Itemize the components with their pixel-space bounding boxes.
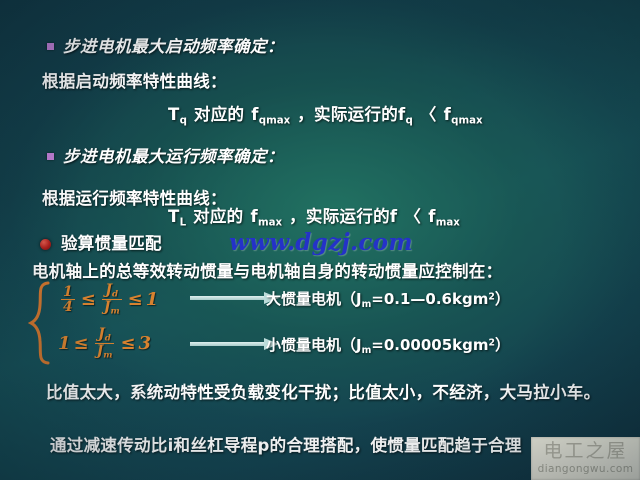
operator-leq-1: ≤ — [74, 333, 89, 354]
inequality-left-value: 1 — [58, 333, 71, 354]
j-symbol: J — [98, 326, 105, 342]
section-1-heading: 步进电机最大启动频率确定： — [47, 33, 284, 57]
formula-comma: ， — [297, 105, 314, 124]
f-subscript: max — [258, 217, 282, 228]
formula-mid-text: 对应的 — [193, 207, 243, 226]
square-bullet-icon — [47, 153, 54, 160]
slide-canvas: 步进电机最大启动频率确定： 根据启动频率特性曲线： Tq对应的fqmax，实际运… — [0, 0, 640, 480]
inertia-intro-text: 电机轴上的总等效转动惯量与电机轴自身的转动惯量应控制在： — [32, 262, 502, 281]
note-2-text: 通过减速传动比i和丝杠导程p的合理搭配，使惯量匹配趋于合理 — [50, 436, 522, 455]
fraction-denominator: Jm — [102, 299, 122, 316]
label-value: =0.1—0.6kgm — [371, 290, 488, 308]
less-than-symbol: 〈 — [404, 207, 421, 226]
square-bullet-icon — [47, 43, 54, 50]
watermark-url: www.dgzj.com — [229, 229, 413, 256]
label-value: =0.00005kgm — [371, 336, 488, 354]
f-symbol: f — [251, 105, 258, 124]
formula-tail-subscript: q — [406, 115, 413, 126]
j-subscript: d — [105, 334, 111, 344]
label-close-paren: ） — [495, 336, 510, 354]
label-subscript: m — [362, 345, 372, 356]
formula-tail-prefix: 实际运行的f — [306, 207, 397, 226]
label-close-paren: ） — [495, 290, 510, 308]
section-1-body-text: 根据启动频率特性曲线： — [42, 72, 227, 91]
section-1-body: 根据启动频率特性曲线： — [42, 68, 227, 92]
less-than-symbol: 〈 — [420, 105, 437, 124]
fraction-jd-jm: Jd Jm — [95, 327, 115, 361]
watermark-url-text: www.dgzj.com — [229, 229, 413, 256]
fraction-numerator: Jd — [96, 327, 113, 343]
curly-brace-icon — [28, 281, 54, 365]
inequality-row-1: 1 4 ≤ Jd Jm ≤ 1 — [58, 283, 158, 317]
section-1-heading-text: 步进电机最大启动频率确定： — [63, 37, 284, 56]
section-2-heading: 步进电机最大运行频率确定： — [47, 143, 284, 167]
formula-tail-prefix: 实际运行的f — [314, 105, 405, 124]
small-inertia-motor-label: 小惯量电机（Jm=0.00005kgm2） — [266, 334, 510, 356]
inertia-heading-text: 验算惯量匹配 — [61, 234, 162, 253]
section-2-formula-line: TL对应的fmax，实际运行的f〈fmax — [168, 203, 460, 228]
inequality-right-value: 3 — [139, 333, 152, 354]
t-symbol: T — [168, 207, 180, 226]
note-line-1: 比值太大，系统动特性受负载变化干扰；比值太小，不经济，大马拉小车。 — [46, 379, 600, 403]
operator-leq-2: ≤ — [120, 333, 135, 354]
j-subscript: m — [110, 307, 119, 317]
f-symbol: f — [250, 207, 257, 226]
label-text: 小惯量电机（J — [266, 336, 362, 354]
fraction-numerator: 1 — [61, 285, 75, 299]
t-subscript: q — [180, 115, 187, 126]
inertia-intro: 电机轴上的总等效转动惯量与电机轴自身的转动惯量应控制在： — [32, 258, 502, 282]
j-subscript: d — [112, 290, 118, 300]
t-symbol: T — [168, 105, 180, 124]
label-subscript: m — [362, 299, 372, 310]
round-bullet-icon — [40, 239, 51, 250]
operator-leq-1: ≤ — [81, 289, 96, 310]
inequality-right-value: 1 — [146, 289, 159, 310]
fraction-jd-jm: Jd Jm — [102, 283, 122, 317]
fraction-one-quarter: 1 4 — [61, 285, 75, 315]
inequality-row-2: 1 ≤ Jd Jm ≤ 3 — [58, 327, 151, 361]
note-line-2: 通过减速传动比i和丝杠导程p的合理搭配，使惯量匹配趋于合理 — [50, 432, 522, 456]
note-1-text: 比值太大，系统动特性受负载变化干扰；比值太小，不经济，大马拉小车。 — [46, 383, 600, 402]
inequality-group: 1 4 ≤ Jd Jm ≤ 1 1 ≤ Jd Jm ≤ 3 — [28, 281, 278, 365]
j-subscript: m — [103, 351, 112, 361]
fraction-denominator: 4 — [61, 299, 75, 314]
large-inertia-motor-label: 大惯量电机（Jm=0.1—0.6kgm2） — [266, 288, 510, 310]
f-subscript: qmax — [259, 115, 290, 126]
formula-tail-f-subscript: max — [436, 217, 460, 228]
site-logo-badge: 电工之屋 diangongwu.com — [531, 437, 640, 480]
operator-leq-2: ≤ — [128, 289, 143, 310]
fraction-denominator: Jm — [95, 343, 115, 360]
formula-comma: ， — [289, 207, 306, 226]
site-logo-en: diangongwu.com — [538, 464, 634, 475]
formula-mid-text: 对应的 — [194, 105, 244, 124]
formula-tail-f: f — [428, 207, 435, 226]
section-2-heading-text: 步进电机最大运行频率确定： — [63, 147, 284, 166]
site-logo-cn: 电工之屋 — [543, 442, 627, 461]
inertia-heading: 验算惯量匹配 — [40, 230, 162, 254]
t-subscript: L — [180, 217, 187, 228]
formula-tail-f-subscript: qmax — [451, 115, 482, 126]
label-text: 大惯量电机（J — [266, 290, 362, 308]
fraction-numerator: Jd — [103, 283, 120, 299]
section-1-formula-line: Tq对应的fqmax，实际运行的fq〈fqmax — [168, 101, 483, 126]
